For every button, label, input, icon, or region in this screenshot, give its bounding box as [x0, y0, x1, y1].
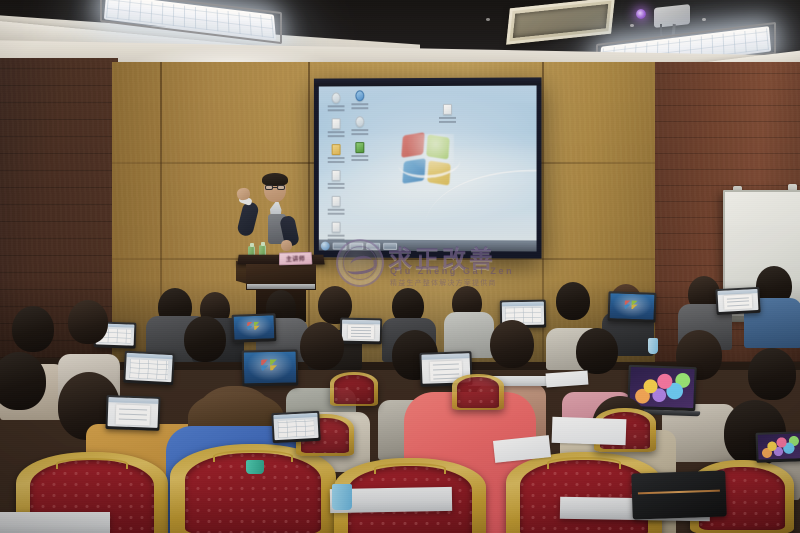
- laptop-document-window-4[interactable]: [105, 395, 160, 431]
- taskbar-item-1[interactable]: [333, 243, 347, 250]
- desktop-icon-text-file[interactable]: [331, 118, 342, 138]
- ceiling-speck: [702, 18, 706, 21]
- desktop-icon-computer[interactable]: [354, 90, 365, 110]
- laptop-win7-desktop[interactable]: [232, 313, 277, 343]
- projected-windows-desktop: [319, 85, 537, 251]
- desktop-icon-word-file[interactable]: [331, 170, 342, 190]
- handout-paper-2: [552, 417, 627, 446]
- ac-vent-louvers: [513, 4, 609, 38]
- banquet-chair[interactable]: [452, 374, 504, 410]
- projected-taskbar[interactable]: [319, 240, 537, 252]
- banquet-chair[interactable]: [330, 372, 378, 406]
- taskbar-item-3[interactable]: [366, 243, 380, 250]
- laptop-colorful-wallpaper-2[interactable]: [755, 431, 800, 463]
- nameplate-text: 主讲师: [286, 254, 305, 263]
- desktop-icon-documents-folder[interactable]: [331, 144, 342, 164]
- handout-paper: [546, 371, 589, 388]
- drink-cup: [648, 338, 658, 354]
- projection-screen: [314, 77, 542, 258]
- laptop-document-window[interactable]: [340, 318, 382, 345]
- speaker-nameplate: 主讲师: [279, 252, 312, 265]
- drink-cup-2: [332, 484, 352, 510]
- laptop-spreadsheet-3[interactable]: [123, 351, 175, 386]
- desktop-icon-recycle-bin[interactable]: [331, 92, 342, 112]
- laptop-win7-desktop-2[interactable]: [607, 291, 656, 323]
- taskbar-item-2[interactable]: [349, 243, 363, 250]
- windows-logo-icon: [402, 134, 454, 186]
- seminar-photo: 主讲师 求正改善 Qiu Zheng Gai Zen 精益生产整体解决方案提供商: [0, 0, 800, 533]
- banquet-chair[interactable]: [170, 444, 336, 533]
- projector-lens-indicator: [636, 9, 646, 19]
- eyeglasses-icon: [265, 185, 285, 190]
- laptop-bag[interactable]: [631, 470, 727, 519]
- ceiling-speck: [630, 24, 634, 27]
- taskbar-item-4[interactable]: [383, 243, 397, 250]
- desktop-icon-excel-file[interactable]: [354, 142, 365, 162]
- desktop-icon-media-player[interactable]: [354, 116, 365, 136]
- drink-cup-3: [246, 460, 264, 474]
- laptop-spreadsheet-4[interactable]: [271, 411, 321, 443]
- desktop-icon-archive-file[interactable]: [331, 196, 342, 216]
- laptop-win7-desktop-3[interactable]: [242, 350, 299, 387]
- presenter-lower-hand: [281, 240, 292, 251]
- desk-surface-front-left: [0, 512, 110, 533]
- ceiling-speck: [486, 18, 490, 21]
- laptop-document-window-2[interactable]: [715, 287, 760, 315]
- desktop-icon-presentation-file[interactable]: [442, 104, 453, 124]
